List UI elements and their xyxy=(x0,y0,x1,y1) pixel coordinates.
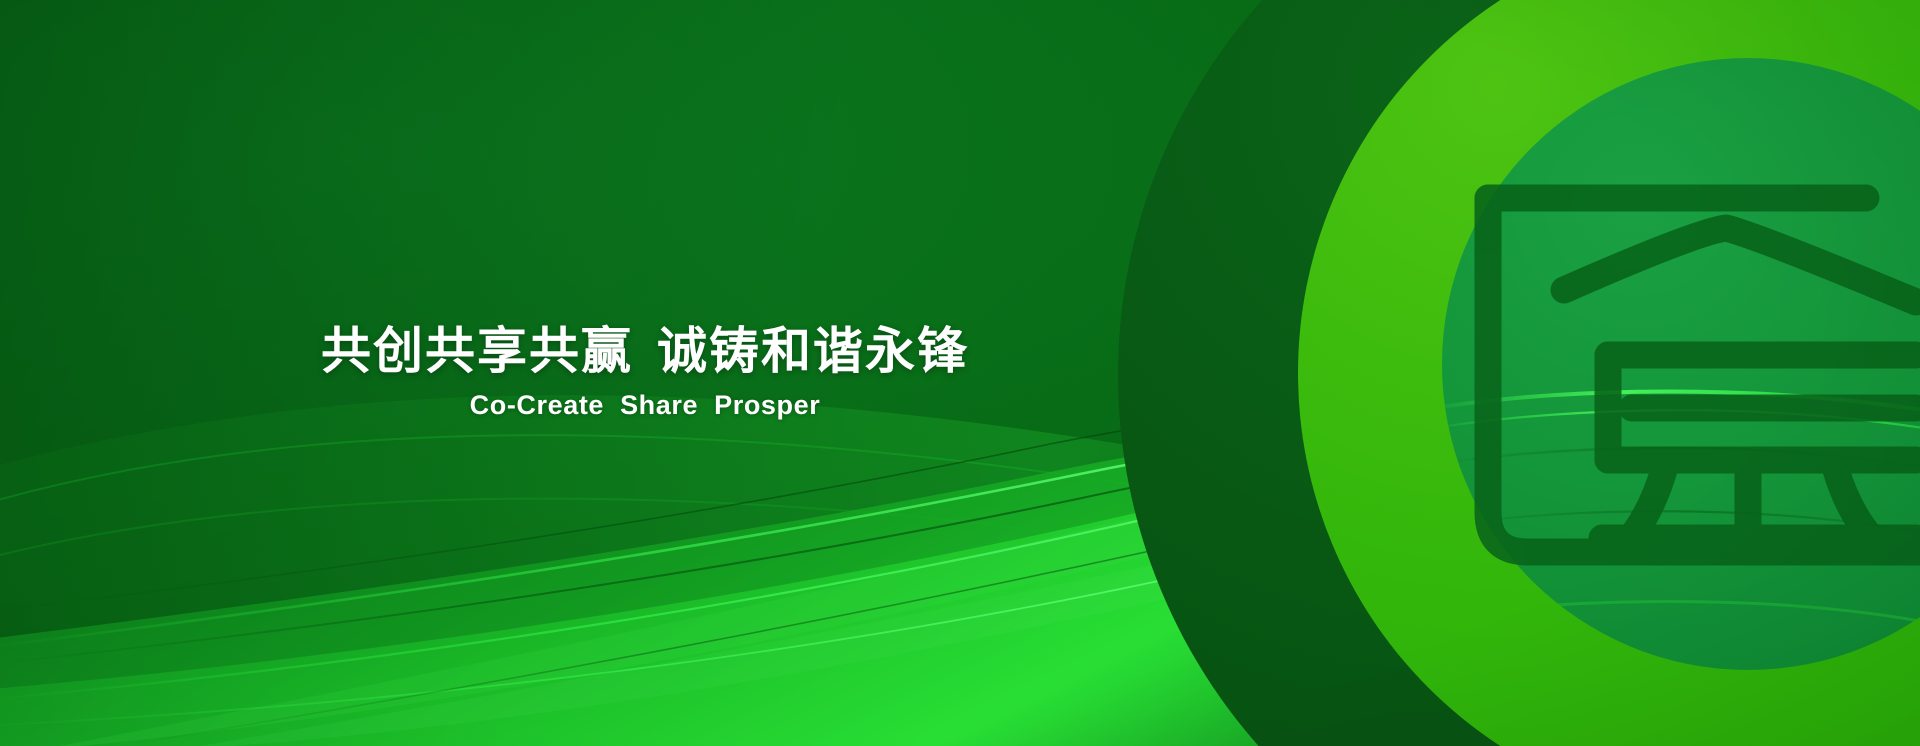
slogan-english-word1: Co-Create xyxy=(470,390,604,420)
slogan-english-word2: Share xyxy=(620,390,698,420)
slogan-block: 共创共享共赢诚铸和谐永锋 Co-CreateShareProsper xyxy=(0,322,1290,421)
slogan-english-word3: Prosper xyxy=(714,390,820,420)
slogan-english: Co-CreateShareProsper xyxy=(0,390,1290,421)
slogan-chinese-part1: 共创共享共赢 xyxy=(321,323,633,379)
green-corporate-banner: 共创共享共赢诚铸和谐永锋 Co-CreateShareProsper xyxy=(0,0,1920,746)
slogan-chinese: 共创共享共赢诚铸和谐永锋 xyxy=(0,322,1290,381)
slogan-chinese-part2: 诚铸和谐永锋 xyxy=(657,323,969,379)
